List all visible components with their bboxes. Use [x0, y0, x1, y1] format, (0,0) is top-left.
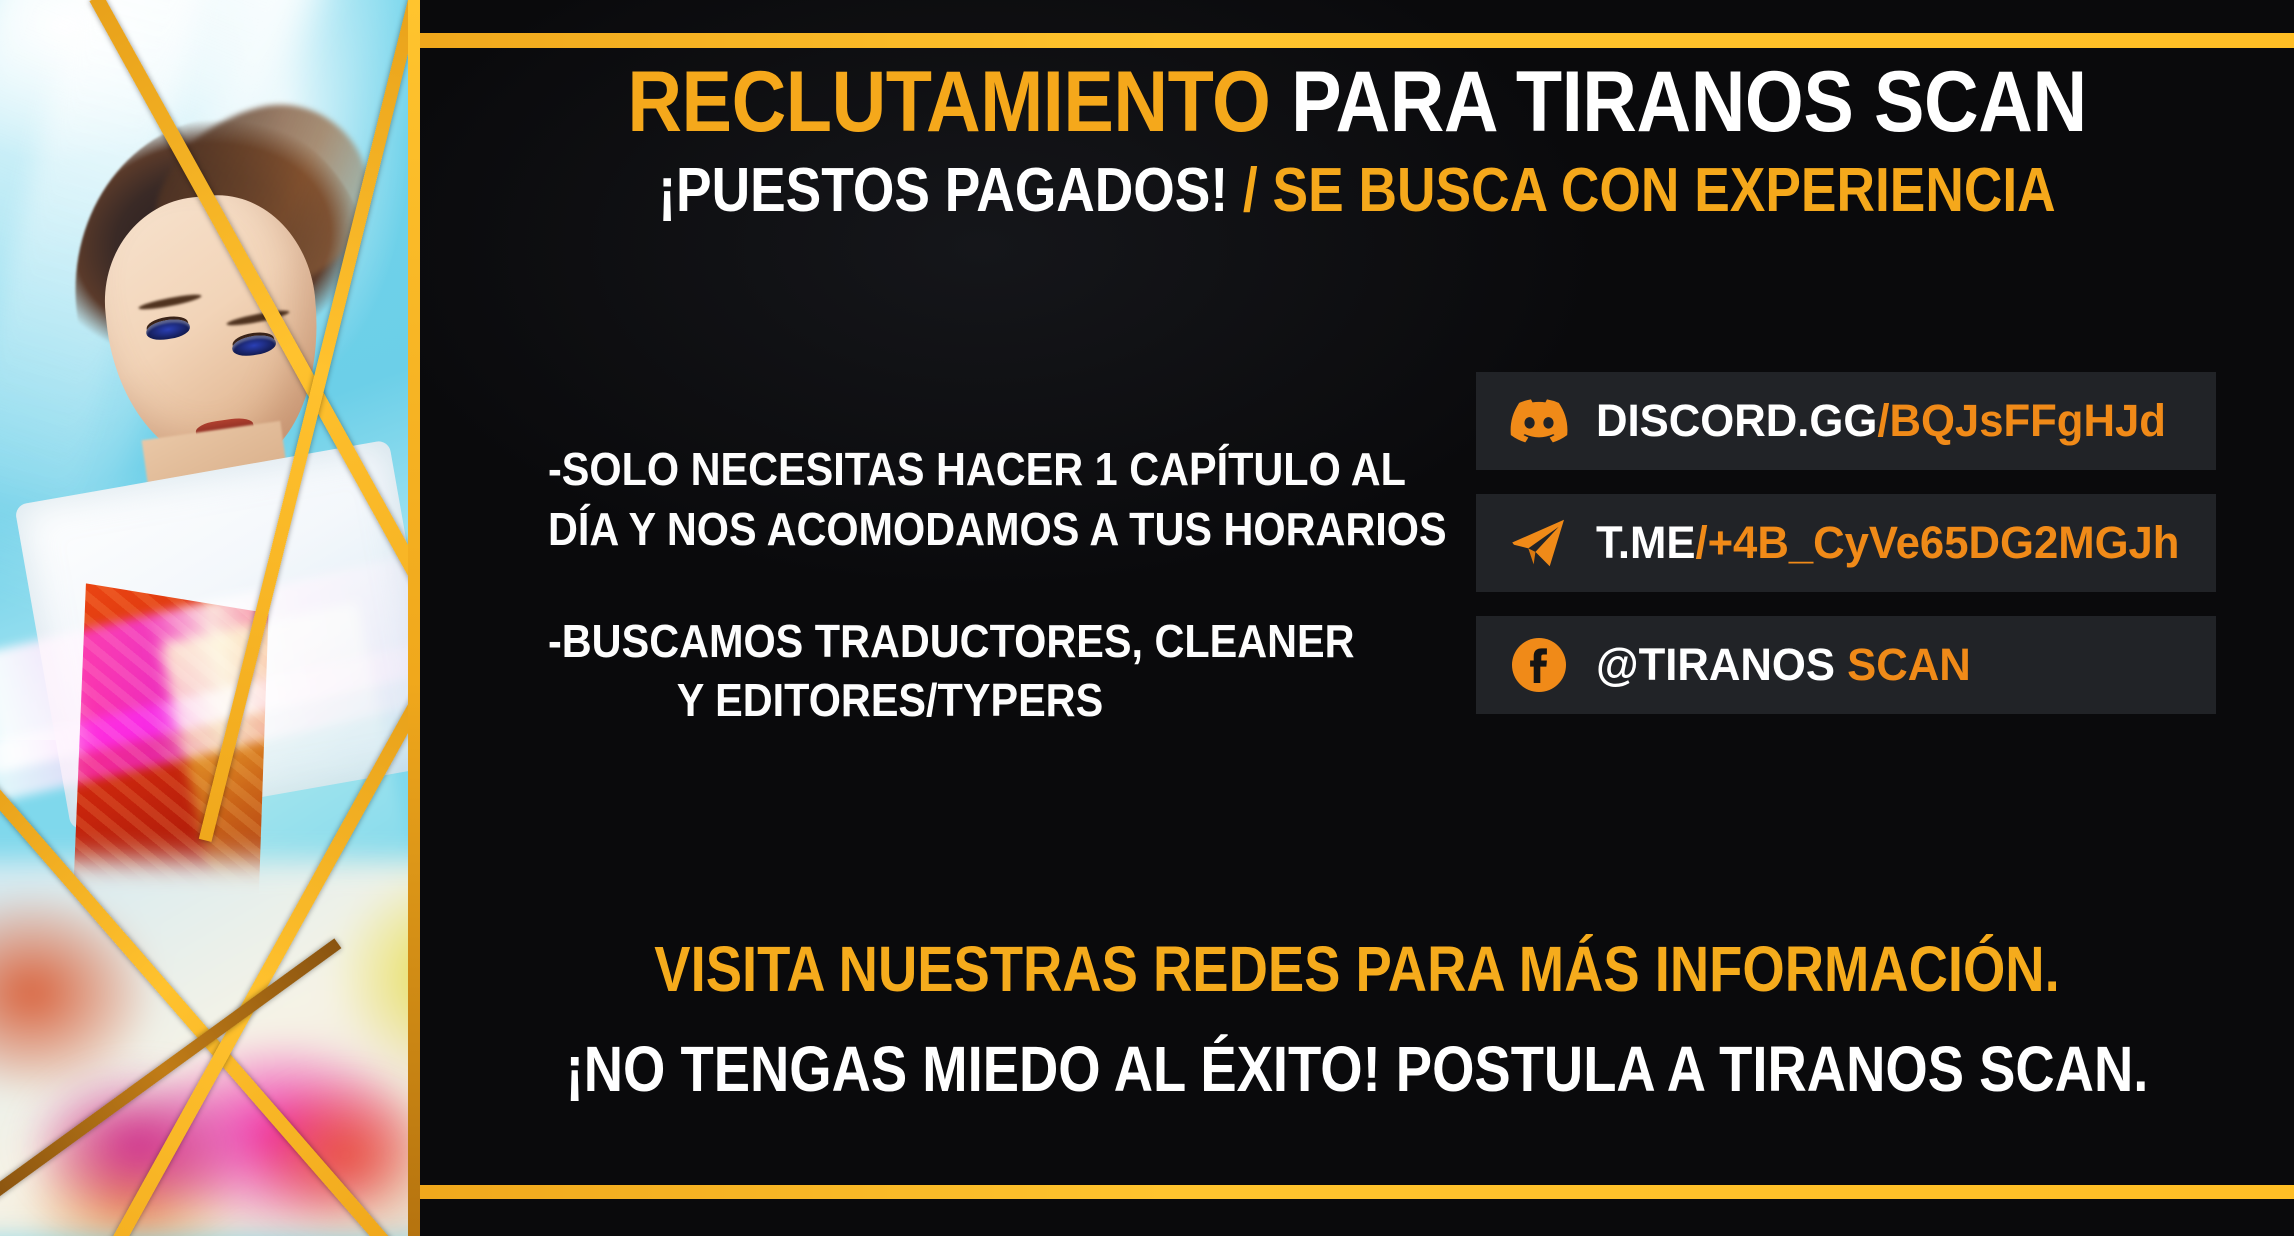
- headline-gold-part: RECLUTAMIENTO: [627, 54, 1270, 150]
- call-to-action: VISITA NUESTRAS REDES PARA MÁS INFORMACI…: [420, 932, 2294, 1106]
- subheadline-gold-part: / SE BUSCA CON EXPERIENCIA: [1228, 156, 2056, 225]
- discord-invite-code: /BQJsFFgHJd: [1877, 395, 2166, 446]
- requirements-list: -SOLO NECESITAS HACER 1 CAPÍTULO AL DÍA …: [548, 440, 1232, 731]
- facebook-handle: @TIRANOS: [1596, 639, 1847, 690]
- gold-rule-bottom: [420, 1185, 2294, 1199]
- facebook-handle-suffix: SCAN: [1847, 639, 1971, 690]
- character-artwork: [0, 0, 420, 1236]
- headline-white-part: PARA TIRANOS SCAN: [1270, 54, 2086, 150]
- requirement-line: DÍA Y NOS ACOMODAMOS A TUS HORARIOS: [548, 500, 1232, 560]
- cta-line-primary: VISITA NUESTRAS REDES PARA MÁS INFORMACI…: [561, 932, 2154, 1006]
- requirement-line: -BUSCAMOS TRADUCTORES, CLEANER: [548, 612, 1232, 672]
- contact-card-telegram-text: T.ME/+4B_CyVe65DG2MGJh: [1596, 517, 2179, 569]
- contact-card-discord-text: DISCORD.GG/BQJsFFgHJd: [1596, 395, 2166, 447]
- headline: RECLUTAMIENTO PARA TIRANOS SCAN: [532, 58, 2181, 147]
- subheadline-white-part: ¡PUESTOS PAGADOS!: [658, 156, 1228, 225]
- discord-icon: [1510, 392, 1568, 450]
- facebook-icon: [1510, 636, 1568, 694]
- artwork-gold-edge-rule: [408, 0, 420, 1236]
- requirement-item: -SOLO NECESITAS HACER 1 CAPÍTULO AL DÍA …: [548, 440, 1232, 560]
- subheadline: ¡PUESTOS PAGADOS! / SE BUSCA CON EXPERIE…: [551, 158, 2163, 223]
- contact-card-telegram[interactable]: T.ME/+4B_CyVe65DG2MGJh: [1476, 494, 2216, 592]
- cta-line-secondary: ¡NO TENGAS MIEDO AL ÉXITO! POSTULA A TIR…: [561, 1032, 2154, 1106]
- gold-rule-top: [420, 33, 2294, 48]
- telegram-icon: [1510, 514, 1568, 572]
- discord-domain: DISCORD.GG: [1596, 395, 1877, 446]
- requirement-item: -BUSCAMOS TRADUCTORES, CLEANER Y EDITORE…: [548, 612, 1232, 732]
- requirement-line: Y EDITORES/TYPERS: [548, 671, 1232, 731]
- contact-card-facebook[interactable]: @TIRANOS SCAN: [1476, 616, 2216, 714]
- contact-card-discord[interactable]: DISCORD.GG/BQJsFFgHJd: [1476, 372, 2216, 470]
- telegram-domain: T.ME: [1596, 517, 1695, 568]
- requirement-line: -SOLO NECESITAS HACER 1 CAPÍTULO AL: [548, 440, 1232, 500]
- recruitment-banner: RECLUTAMIENTO PARA TIRANOS SCAN ¡PUESTOS…: [0, 0, 2294, 1236]
- contact-card-facebook-text: @TIRANOS SCAN: [1596, 639, 1971, 691]
- telegram-invite-code: /+4B_CyVe65DG2MGJh: [1695, 517, 2179, 568]
- content-panel: RECLUTAMIENTO PARA TIRANOS SCAN ¡PUESTOS…: [420, 0, 2294, 1236]
- contact-card-list: DISCORD.GG/BQJsFFgHJd T.ME/+4B_CyVe65DG2…: [1476, 372, 2216, 714]
